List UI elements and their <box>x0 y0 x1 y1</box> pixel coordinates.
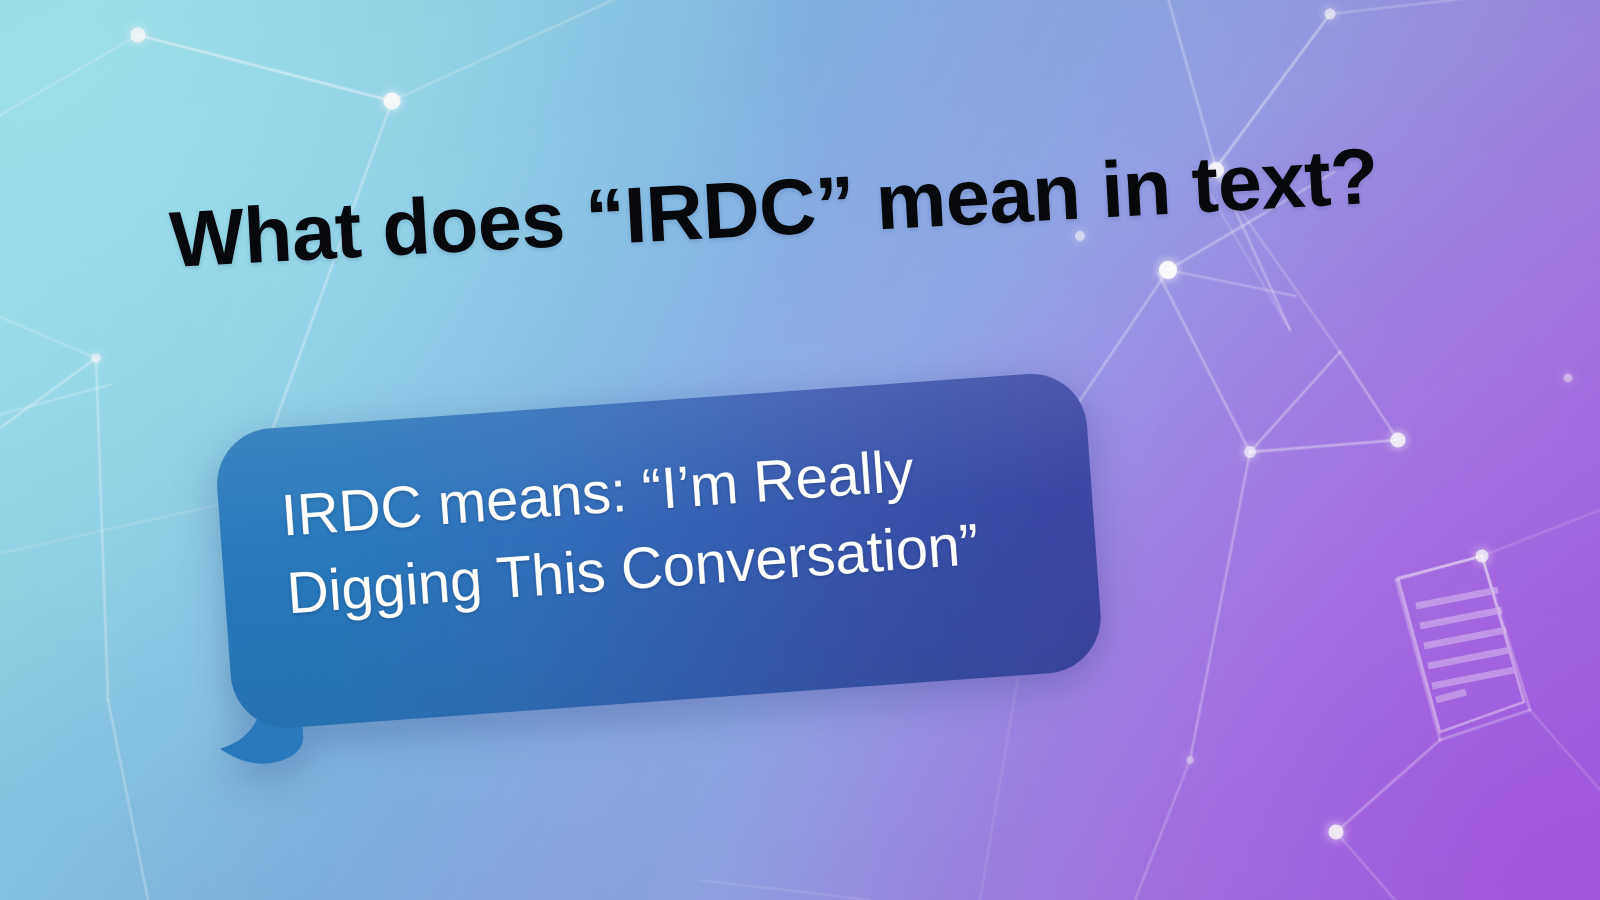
message-bubble: IRDC means: “I’m Really Digging This Con… <box>213 370 1104 732</box>
explainer-card: What does “IRDC” mean in text? IRDC mean… <box>0 0 1600 900</box>
